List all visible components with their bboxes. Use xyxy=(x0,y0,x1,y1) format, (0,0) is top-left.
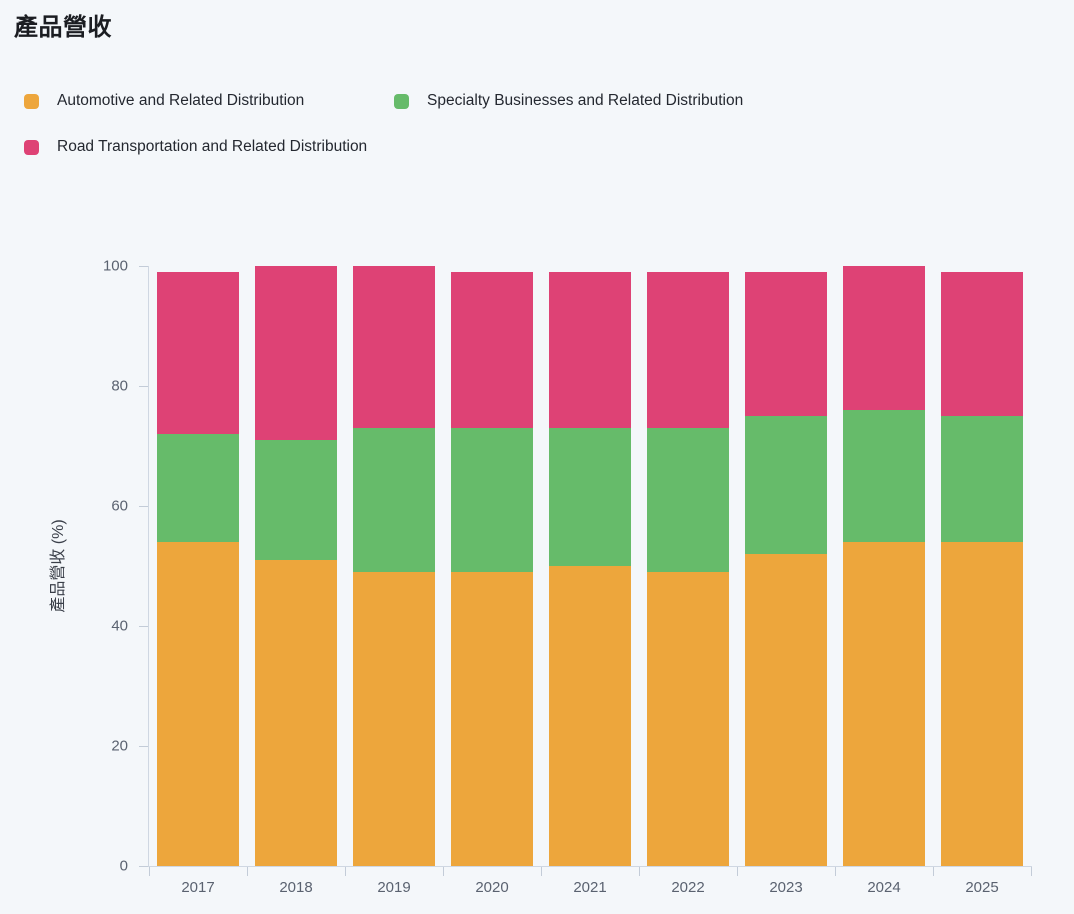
bar-segment[interactable] xyxy=(157,542,239,866)
x-axis-tick-mark xyxy=(149,867,150,876)
bar-segment[interactable] xyxy=(843,542,925,866)
bar-segment[interactable] xyxy=(647,428,729,572)
x-axis-tick-mark xyxy=(933,867,934,876)
bar-segment[interactable] xyxy=(353,572,435,866)
chart-plot-area: 產品營收 (%) 020406080100 201720182019202020… xyxy=(0,0,1074,914)
bar-segment[interactable] xyxy=(941,272,1023,416)
bar-segment[interactable] xyxy=(745,416,827,554)
x-axis-tick-mark xyxy=(835,867,836,876)
bar-segment[interactable] xyxy=(549,566,631,866)
x-axis-tick-label: 2021 xyxy=(549,879,631,896)
bar-group-2021[interactable] xyxy=(549,0,631,914)
x-axis-tick-mark xyxy=(639,867,640,876)
bar-segment[interactable] xyxy=(647,272,729,428)
x-axis-tick-mark xyxy=(345,867,346,876)
bar-segment[interactable] xyxy=(255,560,337,866)
bar-group-2023[interactable] xyxy=(745,0,827,914)
x-axis-tick-label: 2025 xyxy=(941,879,1023,896)
x-axis-tick-mark xyxy=(541,867,542,876)
x-axis-tick-mark xyxy=(737,867,738,876)
stacked-bar-series xyxy=(0,0,1074,914)
bar-segment[interactable] xyxy=(745,272,827,416)
bar-segment[interactable] xyxy=(941,416,1023,542)
x-axis-tick-label: 2019 xyxy=(353,879,435,896)
bar-segment[interactable] xyxy=(157,434,239,542)
x-axis-tick-label: 2022 xyxy=(647,879,729,896)
bar-segment[interactable] xyxy=(353,266,435,428)
x-axis-tick-label: 2018 xyxy=(255,879,337,896)
bar-segment[interactable] xyxy=(647,572,729,866)
bar-group-2024[interactable] xyxy=(843,0,925,914)
bar-segment[interactable] xyxy=(255,440,337,560)
bar-segment[interactable] xyxy=(353,428,435,572)
x-axis-tick-mark xyxy=(443,867,444,876)
bar-segment[interactable] xyxy=(745,554,827,866)
bar-segment[interactable] xyxy=(549,272,631,428)
x-axis-tick-label: 2023 xyxy=(745,879,827,896)
bar-segment[interactable] xyxy=(941,542,1023,866)
x-axis-tick-label: 2024 xyxy=(843,879,925,896)
bar-group-2025[interactable] xyxy=(941,0,1023,914)
bar-segment[interactable] xyxy=(843,410,925,542)
bar-group-2020[interactable] xyxy=(451,0,533,914)
bar-segment[interactable] xyxy=(451,428,533,572)
bar-segment[interactable] xyxy=(255,266,337,440)
bar-segment[interactable] xyxy=(451,572,533,866)
x-axis-tick-label: 2020 xyxy=(451,879,533,896)
bar-group-2022[interactable] xyxy=(647,0,729,914)
bar-group-2017[interactable] xyxy=(157,0,239,914)
x-axis-tick-mark xyxy=(1031,867,1032,876)
x-axis-tick-label: 2017 xyxy=(157,879,239,896)
bar-group-2018[interactable] xyxy=(255,0,337,914)
bar-segment[interactable] xyxy=(549,428,631,566)
bar-segment[interactable] xyxy=(451,272,533,428)
bar-segment[interactable] xyxy=(157,272,239,434)
bar-segment[interactable] xyxy=(843,266,925,410)
bar-group-2019[interactable] xyxy=(353,0,435,914)
x-axis-tick-mark xyxy=(247,867,248,876)
